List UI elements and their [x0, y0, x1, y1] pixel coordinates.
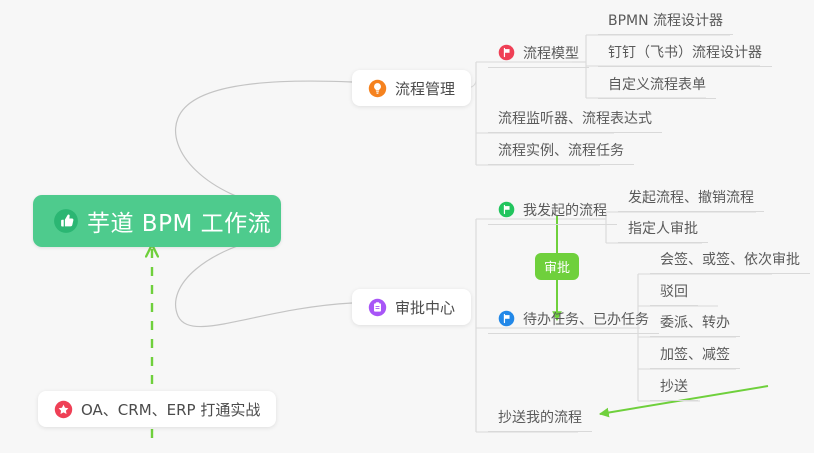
node-label-bpmn-designer: BPMN 流程设计器	[608, 10, 723, 30]
node-todo-done-tasks[interactable]: 待办任务、已办任务	[488, 308, 659, 334]
approval-tag-label: 审批	[544, 257, 570, 276]
curve-to-approval-center	[176, 234, 352, 327]
clipboard-icon	[368, 298, 387, 317]
node-label-process-instance-task: 流程实例、流程任务	[498, 140, 624, 160]
node-add-remove-sign[interactable]: 加签、减签	[650, 343, 740, 369]
node-dingtalk-feishu-designer[interactable]: 钉钉（飞书）流程设计器	[598, 41, 772, 67]
node-label-reject: 驳回	[660, 281, 688, 301]
flag-icon	[498, 201, 515, 218]
node-label-assignee-approval: 指定人审批	[628, 218, 698, 238]
mindmap-canvas: 芋道 BPM 工作流 流程管理 流程模型 BPMN 流程设计器 钉钉（飞书）流	[0, 0, 814, 453]
node-process-listener-expression[interactable]: 流程监听器、流程表达式	[488, 107, 662, 133]
node-label-process-model: 流程模型	[523, 43, 579, 63]
node-delegate-transfer[interactable]: 委派、转办	[650, 311, 740, 337]
flag-icon	[498, 310, 515, 327]
node-process-model[interactable]: 流程模型	[488, 42, 589, 68]
node-assignee-approval[interactable]: 指定人审批	[618, 217, 708, 243]
node-label-delegate-transfer: 委派、转办	[660, 312, 730, 332]
node-custom-process-form[interactable]: 自定义流程表单	[598, 73, 716, 99]
lightbulb-icon	[368, 79, 387, 98]
node-start-cancel-process[interactable]: 发起流程、撤销流程	[618, 186, 764, 212]
node-label-dingtalk-feishu-designer: 钉钉（飞书）流程设计器	[608, 42, 762, 62]
node-process-instance-task[interactable]: 流程实例、流程任务	[488, 139, 634, 165]
node-reject[interactable]: 驳回	[650, 280, 698, 306]
branch-node-process-management[interactable]: 流程管理	[352, 70, 471, 106]
node-label-start-cancel-process: 发起流程、撤销流程	[628, 187, 754, 207]
curve-to-process-management	[176, 81, 352, 209]
node-label-process-listener-expression: 流程监听器、流程表达式	[498, 108, 652, 128]
node-label-countersign-orsign-sequential: 会签、或签、依次审批	[660, 249, 800, 269]
node-label-cc-to-me-process: 抄送我的流程	[498, 407, 582, 427]
node-my-initiated-process[interactable]: 我发起的流程	[488, 199, 617, 225]
branch-label-approval-center: 审批中心	[395, 297, 455, 318]
integration-callout-card[interactable]: OA、CRM、ERP 打通实战	[38, 391, 276, 427]
node-label-my-initiated-process: 我发起的流程	[523, 200, 607, 220]
integration-callout-label: OA、CRM、ERP 打通实战	[81, 399, 260, 420]
node-label-todo-done-tasks: 待办任务、已办任务	[523, 309, 649, 329]
root-node[interactable]: 芋道 BPM 工作流	[33, 195, 281, 247]
node-countersign-orsign-sequential[interactable]: 会签、或签、依次审批	[650, 248, 810, 274]
node-cc-to-me-process[interactable]: 抄送我的流程	[488, 406, 592, 432]
node-bpmn-designer[interactable]: BPMN 流程设计器	[598, 9, 733, 35]
flag-icon	[498, 44, 515, 61]
node-label-custom-process-form: 自定义流程表单	[608, 74, 706, 94]
branch-node-approval-center[interactable]: 审批中心	[352, 289, 471, 325]
node-carbon-copy[interactable]: 抄送	[650, 375, 698, 401]
star-icon	[54, 400, 73, 419]
node-label-carbon-copy: 抄送	[660, 376, 688, 396]
branch-label-process-management: 流程管理	[395, 78, 455, 99]
node-label-add-remove-sign: 加签、减签	[660, 344, 730, 364]
approval-tag-badge: 审批	[535, 253, 579, 280]
root-node-label: 芋道 BPM 工作流	[87, 204, 271, 238]
thumbs-up-icon	[53, 208, 79, 234]
